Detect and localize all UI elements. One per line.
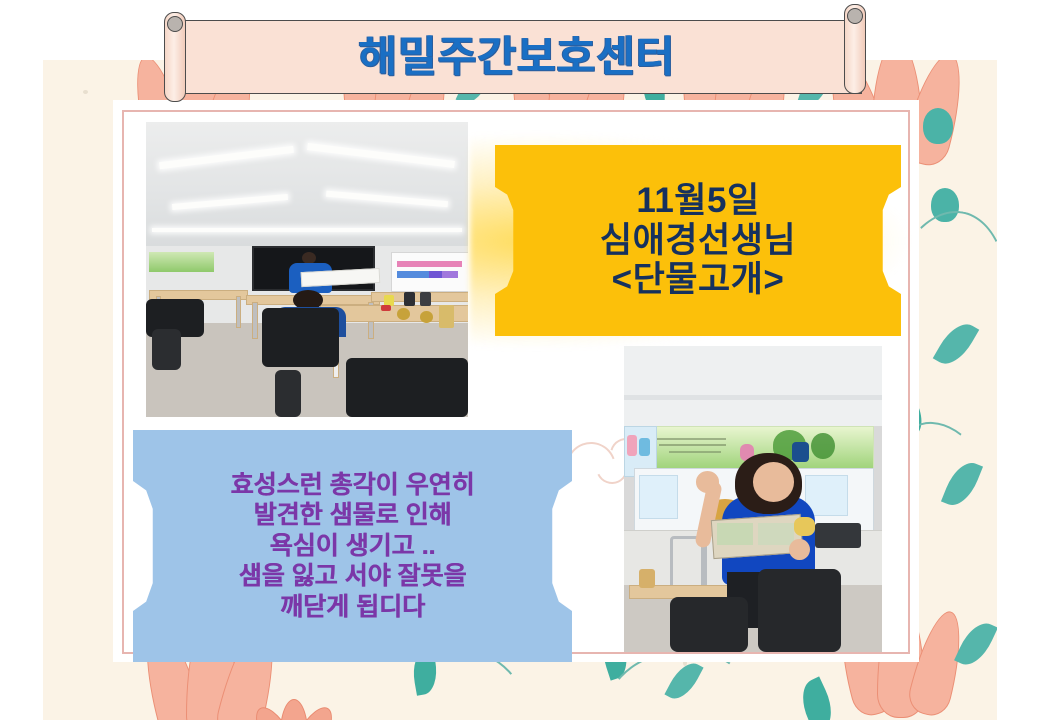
slide-canvas: 해밀주간보호센터 — [0, 0, 1040, 720]
blue-summary-card: 효성스런 총각이 우연히 발견한 샘물로 인해 욕심이 생기고 .. 샘을 잃고… — [133, 430, 572, 662]
yellow-card-line-1: 11월5일 — [636, 181, 759, 221]
blue-card-line-1: 효성스런 총각이 우연히 — [231, 470, 475, 501]
title-banner: 해밀주간보호센터 — [160, 8, 870, 98]
banner-knob-left-icon — [167, 16, 183, 32]
banner-scroll-left — [164, 12, 186, 102]
activity-room-photo — [146, 122, 468, 417]
blue-card-line-5: 깨닫게 됩디다 — [280, 592, 425, 623]
yellow-card-line-3: <단물고개> — [612, 260, 785, 300]
banner-knob-right-icon — [847, 8, 863, 24]
teacher-storytelling-photo — [624, 346, 882, 652]
yellow-info-card: 11월5일 심애경선생님 <단물고개> — [495, 145, 901, 336]
banner-scroll-right — [844, 4, 866, 94]
blue-card-line-3: 욕심이 생기고 .. — [270, 531, 436, 562]
page-title: 해밀주간보호센터 — [358, 36, 675, 78]
title-banner-body: 해밀주간보호센터 — [172, 20, 862, 94]
yellow-card-line-2: 심애경선생님 — [600, 221, 796, 261]
blue-card-line-4: 샘을 잃고 서야 잘못을 — [239, 561, 467, 592]
blue-card-line-2: 발견한 샘물로 인해 — [254, 500, 452, 531]
